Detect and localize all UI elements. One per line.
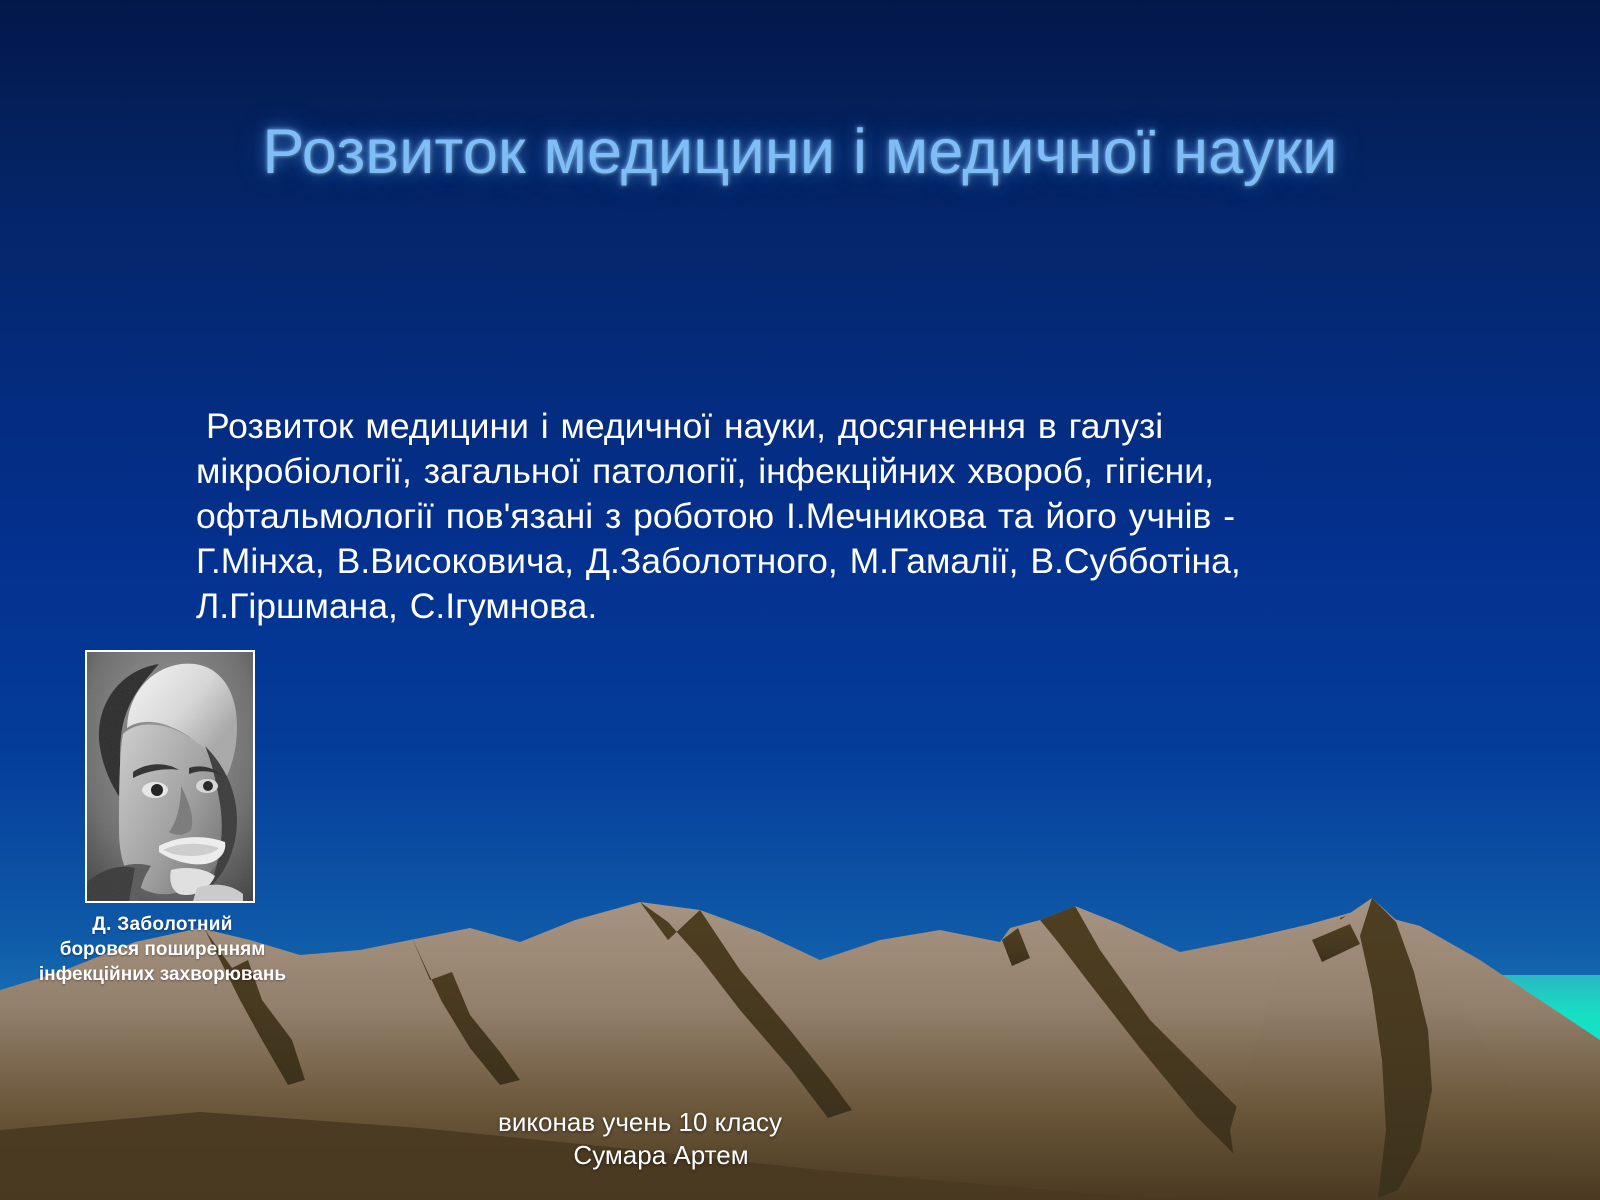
slide-footer-author: виконав учень 10 класу Сумара Артем bbox=[430, 1106, 850, 1172]
footer-line-1: виконав учень 10 класу bbox=[430, 1106, 850, 1139]
portrait-caption-line-3: інфекційних захворювань bbox=[20, 962, 305, 987]
portrait-caption-line-1: Д. Заболотний bbox=[20, 912, 305, 937]
footer-line-2: Сумара Артем bbox=[430, 1139, 850, 1172]
slide-body-text: Розвиток медицини і медичної науки, дося… bbox=[196, 404, 1271, 629]
slide-title: Розвиток медицини і медичної науки bbox=[0, 118, 1600, 187]
portrait-caption-line-2: боровся поширенням bbox=[20, 937, 305, 962]
portrait-photo-zabolotny bbox=[85, 650, 255, 903]
portrait-caption: Д. Заболотний боровся поширенням інфекці… bbox=[20, 912, 305, 987]
presentation-slide: Розвиток медицини і медичної науки Розви… bbox=[0, 0, 1600, 1200]
